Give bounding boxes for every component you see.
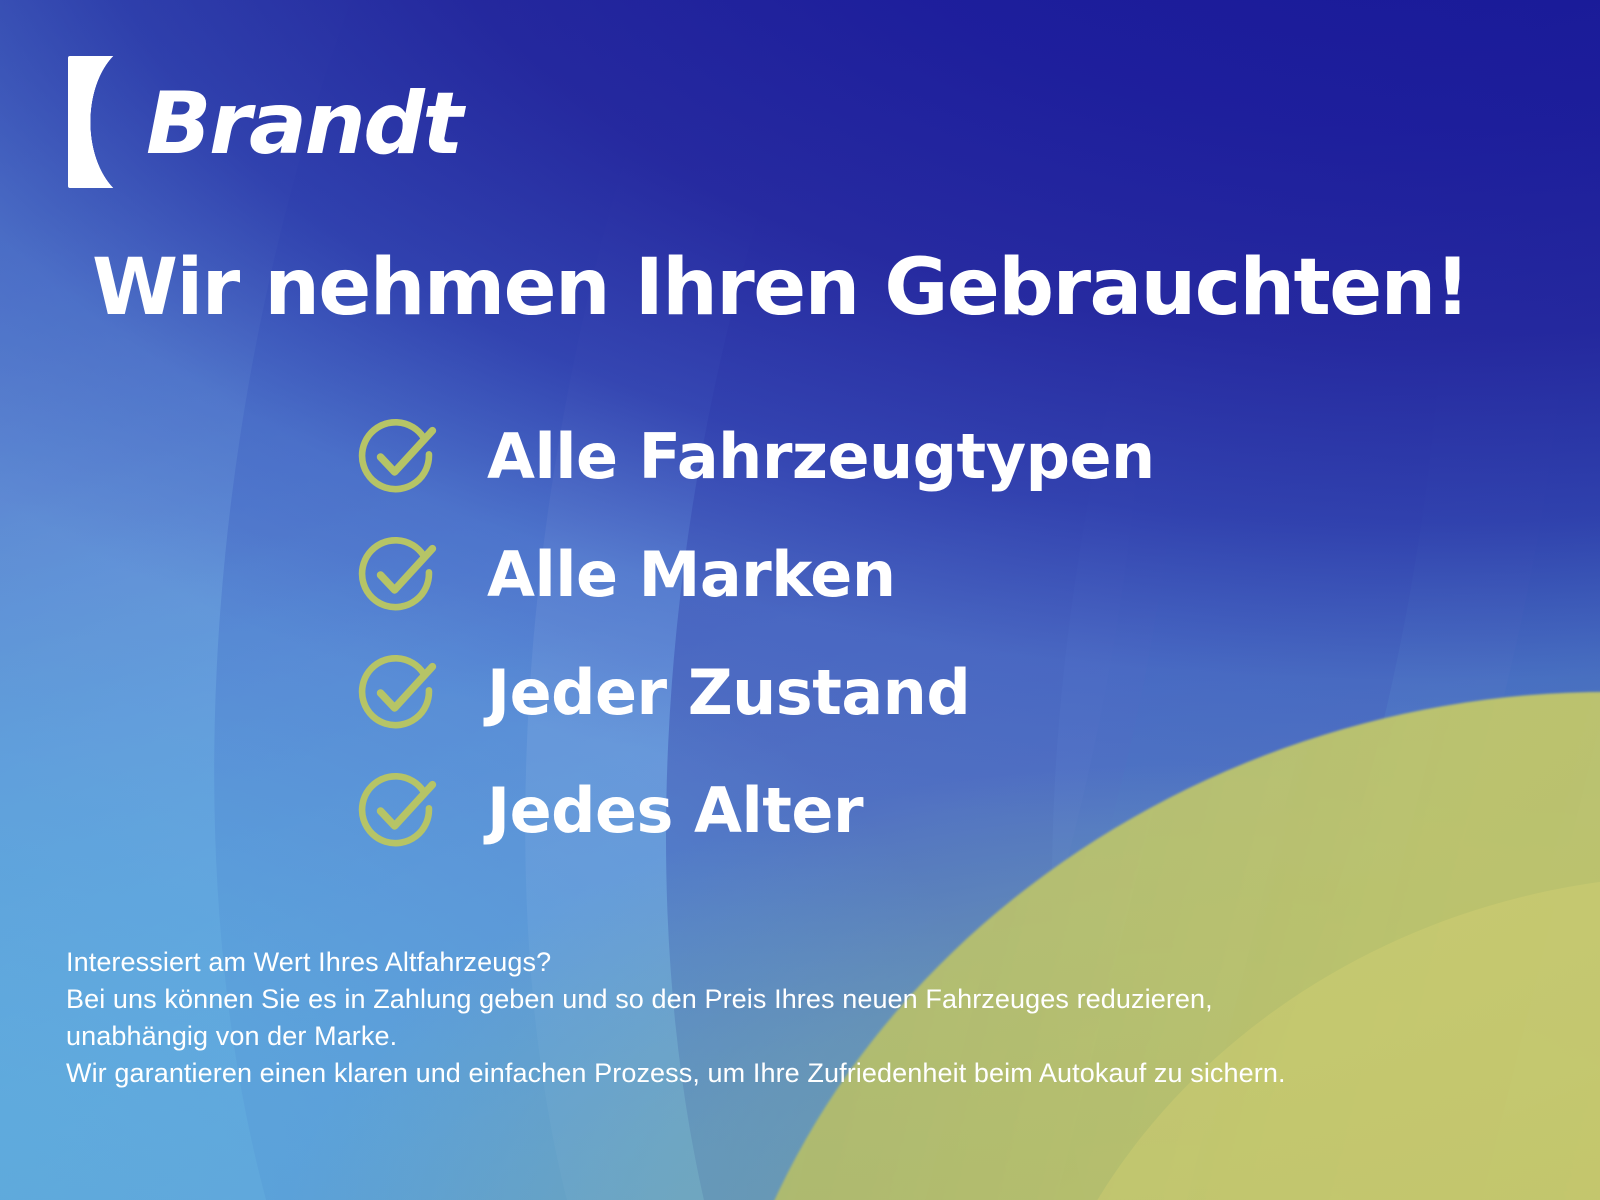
description-line-2: Bei uns können Sie es in Zahlung geben u… — [66, 981, 1546, 1018]
description-line-3: unabhängig von der Marke. — [66, 1018, 1546, 1055]
content-area: Brandt Wir nehmen Ihren Gebrauchten! All… — [0, 0, 1600, 1200]
bracket-mark-icon — [68, 56, 140, 188]
check-circle-icon — [355, 413, 443, 501]
list-item-label: Jeder Zustand — [487, 662, 970, 724]
list-item-label: Alle Fahrzeugtypen — [487, 426, 1155, 488]
list-item: Alle Fahrzeugtypen — [355, 398, 1505, 516]
list-item-label: Jedes Alter — [487, 780, 863, 842]
feature-checklist: Alle Fahrzeugtypen Alle Marken Jeder Zus… — [355, 398, 1505, 870]
brand-name: Brandt — [146, 81, 461, 167]
promo-banner: Brandt Wir nehmen Ihren Gebrauchten! All… — [0, 0, 1600, 1200]
check-circle-icon — [355, 649, 443, 737]
list-item: Jeder Zustand — [355, 634, 1505, 752]
check-circle-icon — [355, 531, 443, 619]
list-item-label: Alle Marken — [487, 544, 896, 606]
check-circle-icon — [355, 767, 443, 855]
description-line-1: Interessiert am Wert Ihres Altfahrzeugs? — [66, 944, 1546, 981]
brand-logo: Brandt — [68, 56, 461, 188]
list-item: Alle Marken — [355, 516, 1505, 634]
description-line-4: Wir garantieren einen klaren und einfach… — [66, 1055, 1546, 1092]
page-title: Wir nehmen Ihren Gebrauchten! — [92, 248, 1512, 330]
list-item: Jedes Alter — [355, 752, 1505, 870]
description-paragraph: Interessiert am Wert Ihres Altfahrzeugs?… — [66, 944, 1546, 1092]
